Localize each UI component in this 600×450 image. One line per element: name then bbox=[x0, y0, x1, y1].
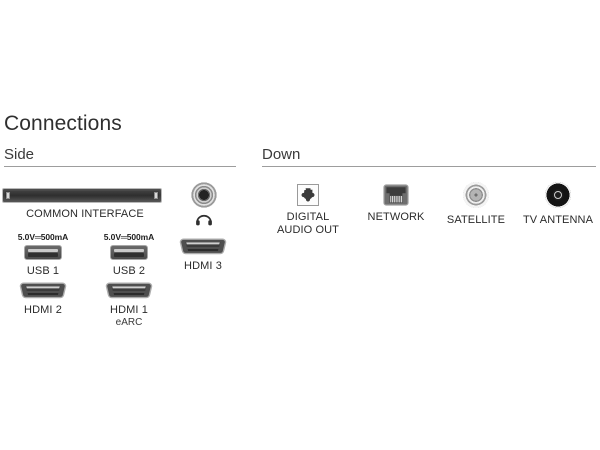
port-network[interactable]: NETWORK bbox=[360, 184, 432, 224]
port-hdmi-1[interactable]: HDMI 1 eARC bbox=[88, 282, 170, 329]
panel-down: Down bbox=[262, 146, 596, 167]
port-hdmi-3[interactable]: HDMI 3 bbox=[170, 238, 236, 273]
page-title: Connections bbox=[4, 112, 122, 136]
port-label-tv-antenna: TV ANTENNA bbox=[520, 214, 596, 227]
panel-side: Side bbox=[4, 146, 236, 167]
port-label-network: NETWORK bbox=[360, 211, 432, 224]
port-satellite[interactable]: SATELLITE bbox=[440, 182, 512, 227]
port-label-usb-2: USB 2 bbox=[88, 265, 170, 278]
headphone-icon bbox=[195, 212, 213, 226]
port-headphone[interactable] bbox=[180, 182, 228, 226]
port-label-hdmi-2: HDMI 2 bbox=[2, 304, 84, 317]
port-digital-audio-out[interactable]: DIGITAL AUDIO OUT bbox=[272, 184, 344, 237]
port-usb-1[interactable]: 5.0V═500mA USB 1 bbox=[2, 232, 84, 278]
port-usb-2[interactable]: 5.0V═500mA USB 2 bbox=[88, 232, 170, 278]
port-label-hdmi-1: HDMI 1 bbox=[88, 304, 170, 317]
port-label-usb-1: USB 1 bbox=[2, 265, 84, 278]
port-sublabel-hdmi-1: eARC bbox=[88, 317, 170, 329]
headphone-jack-icon bbox=[191, 182, 217, 208]
port-common-interface[interactable]: COMMON INTERFACE bbox=[2, 188, 168, 221]
port-label-hdmi-3: HDMI 3 bbox=[170, 260, 236, 273]
ci-slot-icon bbox=[2, 188, 162, 203]
coax-satellite-icon bbox=[463, 182, 489, 208]
port-label-satellite: SATELLITE bbox=[440, 214, 512, 227]
panel-heading-down: Down bbox=[262, 146, 596, 166]
port-power-rating-usb-2: 5.0V═500mA bbox=[88, 232, 170, 242]
panel-rule-down bbox=[262, 166, 596, 167]
coax-antenna-icon bbox=[545, 182, 571, 208]
usb-icon bbox=[110, 245, 148, 260]
rj45-icon bbox=[383, 184, 409, 206]
hdmi-icon bbox=[105, 282, 153, 299]
panel-heading-side: Side bbox=[4, 146, 236, 166]
port-label-digital-audio-out-line1: DIGITAL bbox=[272, 211, 344, 224]
port-tv-antenna[interactable]: TV ANTENNA bbox=[520, 182, 596, 227]
hdmi-icon bbox=[179, 238, 227, 255]
port-power-rating-usb-1: 5.0V═500mA bbox=[2, 232, 84, 242]
port-hdmi-2[interactable]: HDMI 2 bbox=[2, 282, 84, 317]
panel-rule-side bbox=[4, 166, 236, 167]
hdmi-icon bbox=[19, 282, 67, 299]
port-label-common-interface: COMMON INTERFACE bbox=[2, 208, 168, 221]
optical-toslink-icon bbox=[297, 184, 319, 206]
port-label-digital-audio-out-line2: AUDIO OUT bbox=[272, 224, 344, 237]
usb-icon bbox=[24, 245, 62, 260]
